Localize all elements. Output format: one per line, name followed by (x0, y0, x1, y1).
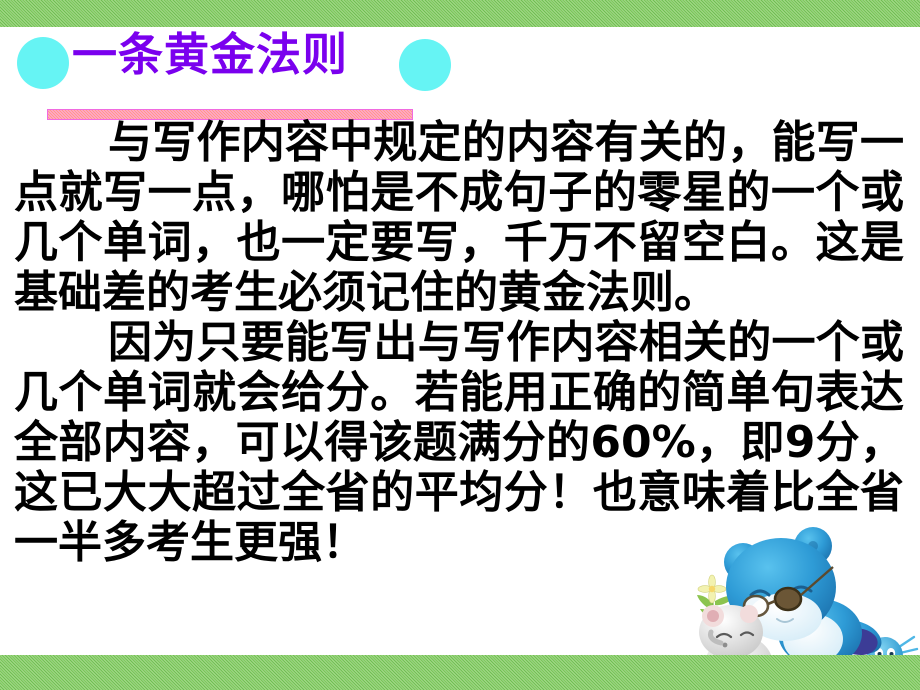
bottom-green-band (0, 655, 920, 690)
cyan-dot-right-icon (399, 39, 451, 91)
body-paragraph-1: 与写作内容中规定的内容有关的，能写一点就写一点，哪怕是不成句子的零星的一个或几个… (14, 118, 904, 318)
top-green-band (0, 0, 920, 27)
title-block: 一条黄金法则 (0, 27, 920, 102)
body-text-container: 与写作内容中规定的内容有关的，能写一点就写一点，哪怕是不成句子的零星的一个或几个… (14, 118, 904, 568)
slide-canvas: 一条黄金法则 与写作内容中规定的内容有关的，能写一点就写一点，哪怕是不成句子的零… (0, 0, 920, 690)
cyan-dot-left-icon (17, 37, 69, 89)
page-title: 一条黄金法则 (72, 29, 348, 81)
